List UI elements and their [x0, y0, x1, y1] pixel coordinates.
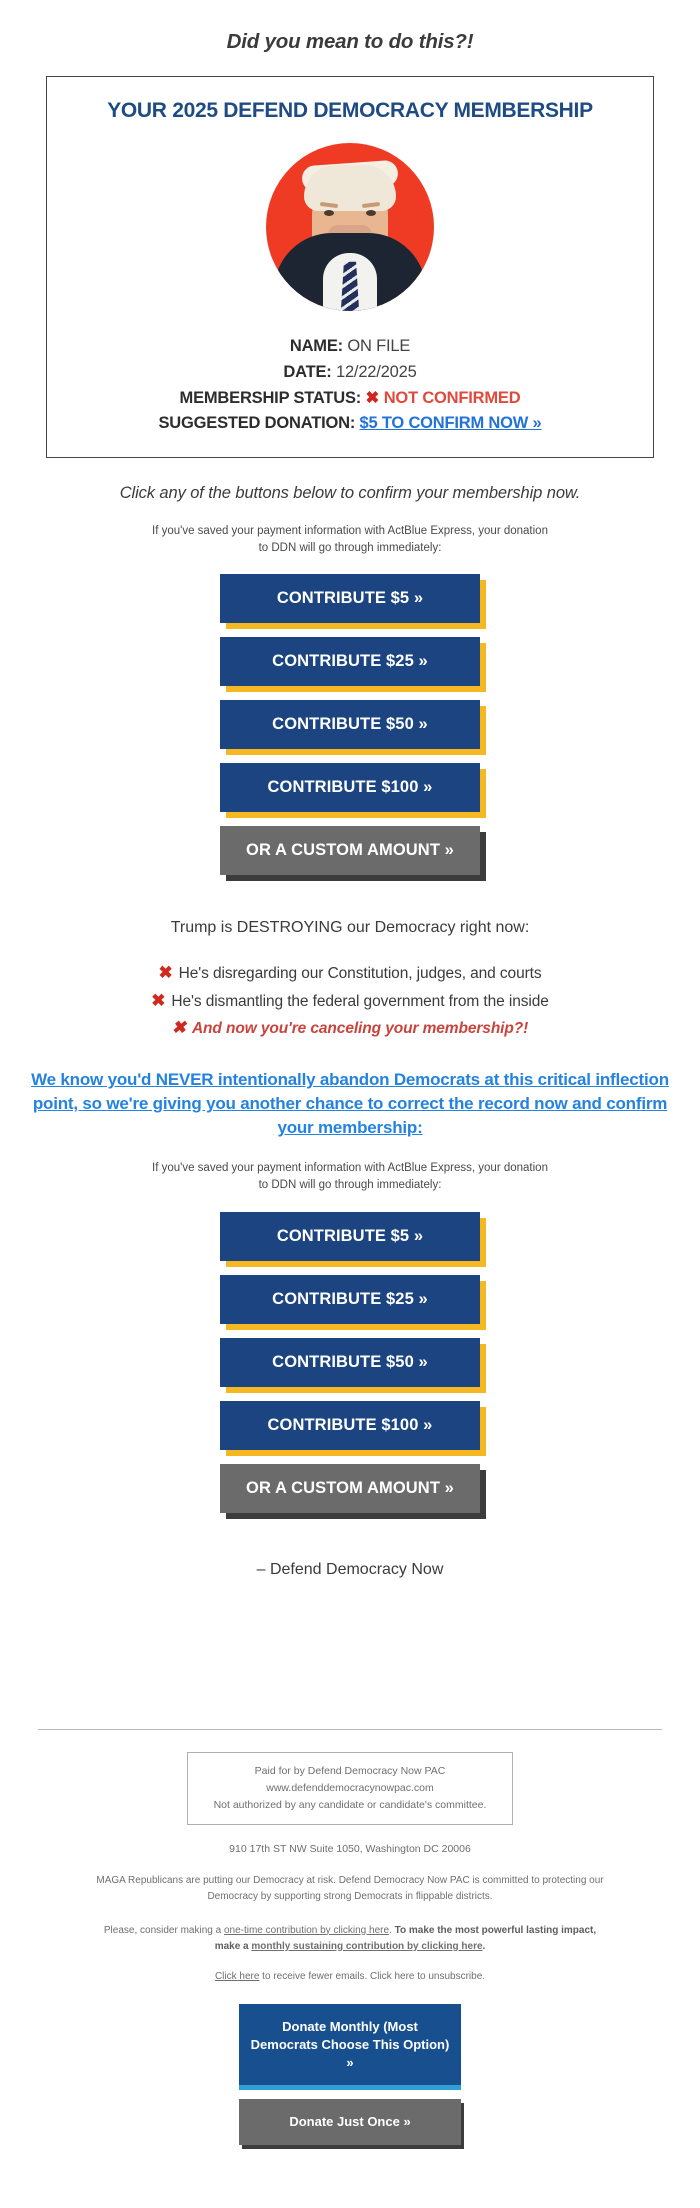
contribute-100-button-bottom[interactable]: CONTRIBUTE $100 »: [220, 1401, 480, 1450]
card-date-row: DATE: 12/22/2025: [61, 360, 639, 385]
membership-card: YOUR 2025 DEFEND DEMOCRACY MEMBERSHIP NA…: [46, 76, 654, 458]
footer-buttons: Donate Monthly (Most Democrats Choose Th…: [40, 1982, 660, 2184]
bullet-text: And now you're canceling your membership…: [192, 1020, 528, 1037]
bullet-text: He's disregarding our Constitution, judg…: [179, 965, 542, 982]
x-mark-icon: ✖: [158, 963, 172, 982]
paid-for-line-3: Not authorized by any candidate or candi…: [200, 1797, 500, 1814]
contribute-50-button-top[interactable]: CONTRIBUTE $50 »: [220, 700, 480, 749]
status-badge: NOT CONFIRMED: [384, 389, 521, 407]
actblue-note-line2: to DDN will go through immediately:: [259, 542, 442, 554]
actblue-note-line1: If you've saved your payment information…: [152, 525, 548, 537]
bullet-list: ✖He's disregarding our Constitution, jud…: [0, 937, 700, 1042]
footer-contribution-note: Please, consider making a one-time contr…: [40, 1905, 660, 1955]
donation-buttons-bottom: CONTRIBUTE $5 » CONTRIBUTE $25 » CONTRIB…: [0, 1194, 700, 1513]
donate-monthly-button[interactable]: Donate Monthly (Most Democrats Choose Th…: [239, 2004, 461, 2086]
footer-address: 910 17th ST NW Suite 1050, Washington DC…: [40, 1825, 660, 1855]
x-mark-icon: ✖: [366, 389, 380, 407]
bullet-text: He's dismantling the federal government …: [171, 993, 548, 1010]
lede-text: Click any of the buttons below to confir…: [0, 458, 700, 503]
confirm-now-link[interactable]: $5 TO CONFIRM NOW »: [360, 414, 542, 432]
portrait-container: [61, 143, 639, 316]
card-date-value: 12/22/2025: [336, 363, 417, 381]
bold-suffix: .: [483, 1941, 486, 1952]
email-body: Did you mean to do this?! YOUR 2025 DEFE…: [0, 0, 700, 2183]
card-status-label: MEMBERSHIP STATUS:: [180, 389, 362, 407]
card-donation-label: SUGGESTED DONATION:: [158, 414, 355, 432]
card-donation-row: SUGGESTED DONATION: $5 TO CONFIRM NOW »: [61, 411, 639, 436]
card-name-label: NAME:: [290, 337, 343, 355]
paid-for-line-1: Paid for by Defend Democracy Now PAC: [200, 1763, 500, 1780]
contribute-25-button-bottom[interactable]: CONTRIBUTE $25 »: [220, 1275, 480, 1324]
list-item: ✖He's disregarding our Constitution, jud…: [30, 959, 670, 987]
card-name-row: NAME: ON FILE: [61, 334, 639, 359]
contribute-5-button-bottom[interactable]: CONTRIBUTE $5 »: [220, 1212, 480, 1261]
footer: Paid for by Defend Democracy Now PAC www…: [0, 1730, 700, 2184]
footer-unsubscribe: Click here to receive fewer emails. Clic…: [40, 1955, 660, 1982]
donate-once-button[interactable]: Donate Just Once »: [239, 2099, 461, 2145]
paid-for-website: www.defenddemocracynowpac.com: [200, 1780, 500, 1797]
confirm-membership-link[interactable]: We know you'd NEVER intentionally abando…: [0, 1042, 700, 1140]
x-mark-icon: ✖: [151, 991, 165, 1010]
custom-amount-button-top[interactable]: OR A CUSTOM AMOUNT »: [220, 826, 480, 875]
mid-text: Trump is DESTROYING our Democracy right …: [0, 889, 700, 937]
signoff-text: – Defend Democracy Now: [0, 1527, 700, 1579]
contribute-5-button-top[interactable]: CONTRIBUTE $5 »: [220, 574, 480, 623]
unsubscribe-text: to receive fewer emails. Click here to u…: [259, 1971, 485, 1982]
custom-amount-button-bottom[interactable]: OR A CUSTOM AMOUNT »: [220, 1464, 480, 1513]
contribute-100-button-top[interactable]: CONTRIBUTE $100 »: [220, 763, 480, 812]
spacer: [0, 1579, 700, 1729]
actblue-note-top: If you've saved your payment information…: [0, 503, 700, 556]
list-item: ✖And now you're canceling your membershi…: [30, 1014, 670, 1042]
page-title: Did you mean to do this?!: [0, 0, 700, 76]
list-item: ✖He's dismantling the federal government…: [30, 987, 670, 1015]
fewer-emails-link[interactable]: Click here: [215, 1971, 259, 1982]
monthly-contribution-link[interactable]: monthly sustaining contribution by click…: [251, 1941, 482, 1952]
please-prefix: Please, consider making a: [104, 1925, 224, 1936]
card-title: YOUR 2025 DEFEND DEMOCRACY MEMBERSHIP: [61, 99, 639, 123]
one-time-contribution-link[interactable]: one-time contribution by clicking here: [224, 1925, 389, 1936]
contribute-50-button-bottom[interactable]: CONTRIBUTE $50 »: [220, 1338, 480, 1387]
footer-disclaimer: MAGA Republicans are putting our Democra…: [40, 1855, 660, 1905]
paid-for-box: Paid for by Defend Democracy Now PAC www…: [187, 1752, 513, 1825]
trump-portrait-icon: [266, 143, 434, 311]
card-date-label: DATE:: [283, 363, 331, 381]
donation-buttons-top: CONTRIBUTE $5 » CONTRIBUTE $25 » CONTRIB…: [0, 556, 700, 875]
contribute-25-button-top[interactable]: CONTRIBUTE $25 »: [220, 637, 480, 686]
card-fields: NAME: ON FILE DATE: 12/22/2025 MEMBERSHI…: [61, 334, 639, 436]
actblue-note-line2: to DDN will go through immediately:: [259, 1179, 442, 1191]
card-status-row: MEMBERSHIP STATUS: ✖ NOT CONFIRMED: [61, 386, 639, 411]
actblue-note-bottom: If you've saved your payment information…: [0, 1140, 700, 1193]
actblue-note-line1: If you've saved your payment information…: [152, 1162, 548, 1174]
card-name-value: ON FILE: [347, 337, 410, 355]
x-mark-icon: ✖: [172, 1018, 186, 1037]
